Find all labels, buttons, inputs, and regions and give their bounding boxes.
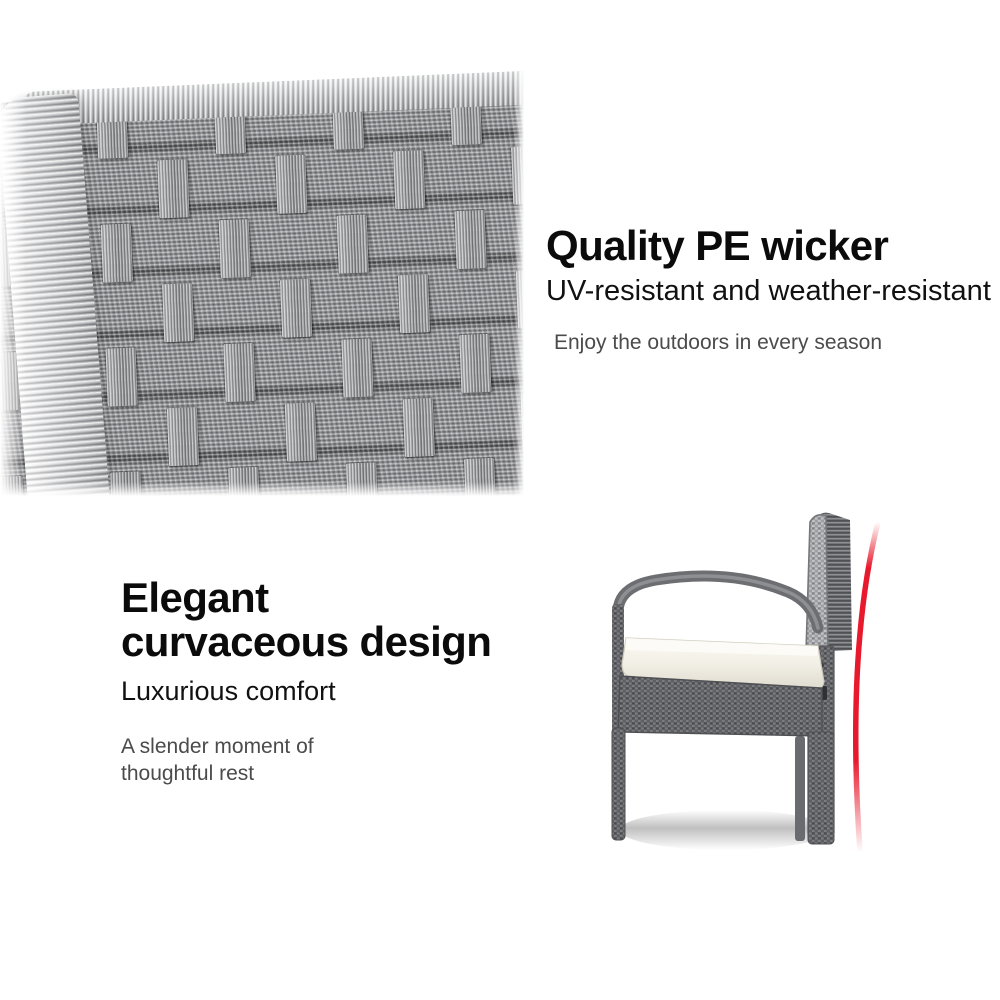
wicker-vertical-strap	[0, 476, 25, 496]
wicker-vertical-strap	[341, 338, 373, 397]
wicker-vertical-strap	[459, 334, 491, 393]
feature-headline: Elegant curvaceous design	[121, 576, 541, 663]
wicker-closeup-image	[0, 0, 524, 496]
chair-armrest	[618, 576, 818, 628]
wicker-vertical-strap	[157, 159, 189, 218]
product-feature-banner: Quality PE wicker UV-resistant and weath…	[0, 0, 1000, 1000]
wicker-vertical-strap	[398, 274, 430, 333]
wicker-vertical-strap	[403, 398, 435, 457]
wicker-vertical-strap	[393, 150, 425, 209]
red-curve-accent	[856, 522, 878, 852]
wicker-vertical-strap	[346, 462, 378, 496]
chair-front-leg-right	[808, 732, 834, 844]
wicker-vertical-strap	[511, 146, 524, 205]
wicker-vertical-strap	[521, 394, 524, 453]
chair-front-leg-left	[612, 728, 625, 840]
feature-body-text: Enjoy the outdoors in every season	[554, 329, 996, 356]
wicker-vertical-strap	[167, 407, 199, 466]
feature-copy-pe-wicker: Quality PE wicker UV-resistant and weath…	[546, 224, 996, 356]
wicker-vertical-strap	[219, 219, 251, 278]
wicker-vertical-strap	[162, 283, 194, 342]
wicker-vertical-strap	[223, 343, 255, 402]
wicker-vertical-strap	[101, 224, 133, 283]
wicker-vertical-strap	[464, 458, 496, 496]
chair-image	[560, 500, 1000, 920]
feature-body-text: A slender moment of thoughtful rest	[121, 733, 541, 788]
wicker-vertical-strap	[275, 155, 307, 214]
wicker-vertical-strap	[228, 467, 260, 496]
wicker-vertical-strap	[105, 347, 137, 406]
wicker-vertical-strap	[516, 270, 524, 329]
wicker-vertical-strap	[285, 403, 317, 462]
wicker-vertical-strap	[337, 214, 369, 273]
feature-subheadline: Luxurious comfort	[121, 676, 541, 706]
wicker-vertical-strap	[110, 471, 142, 496]
wicker-vertical-strap	[280, 279, 312, 338]
chair-illustration	[560, 500, 1000, 920]
feature-copy-curvaceous-design: Elegant curvaceous design Luxurious comf…	[121, 576, 541, 787]
wicker-vertical-strap	[454, 210, 486, 269]
feature-subheadline: UV-resistant and weather-resistant	[546, 275, 996, 307]
feature-headline: Quality PE wicker	[546, 224, 996, 268]
chair-back-leg-right	[795, 736, 805, 841]
